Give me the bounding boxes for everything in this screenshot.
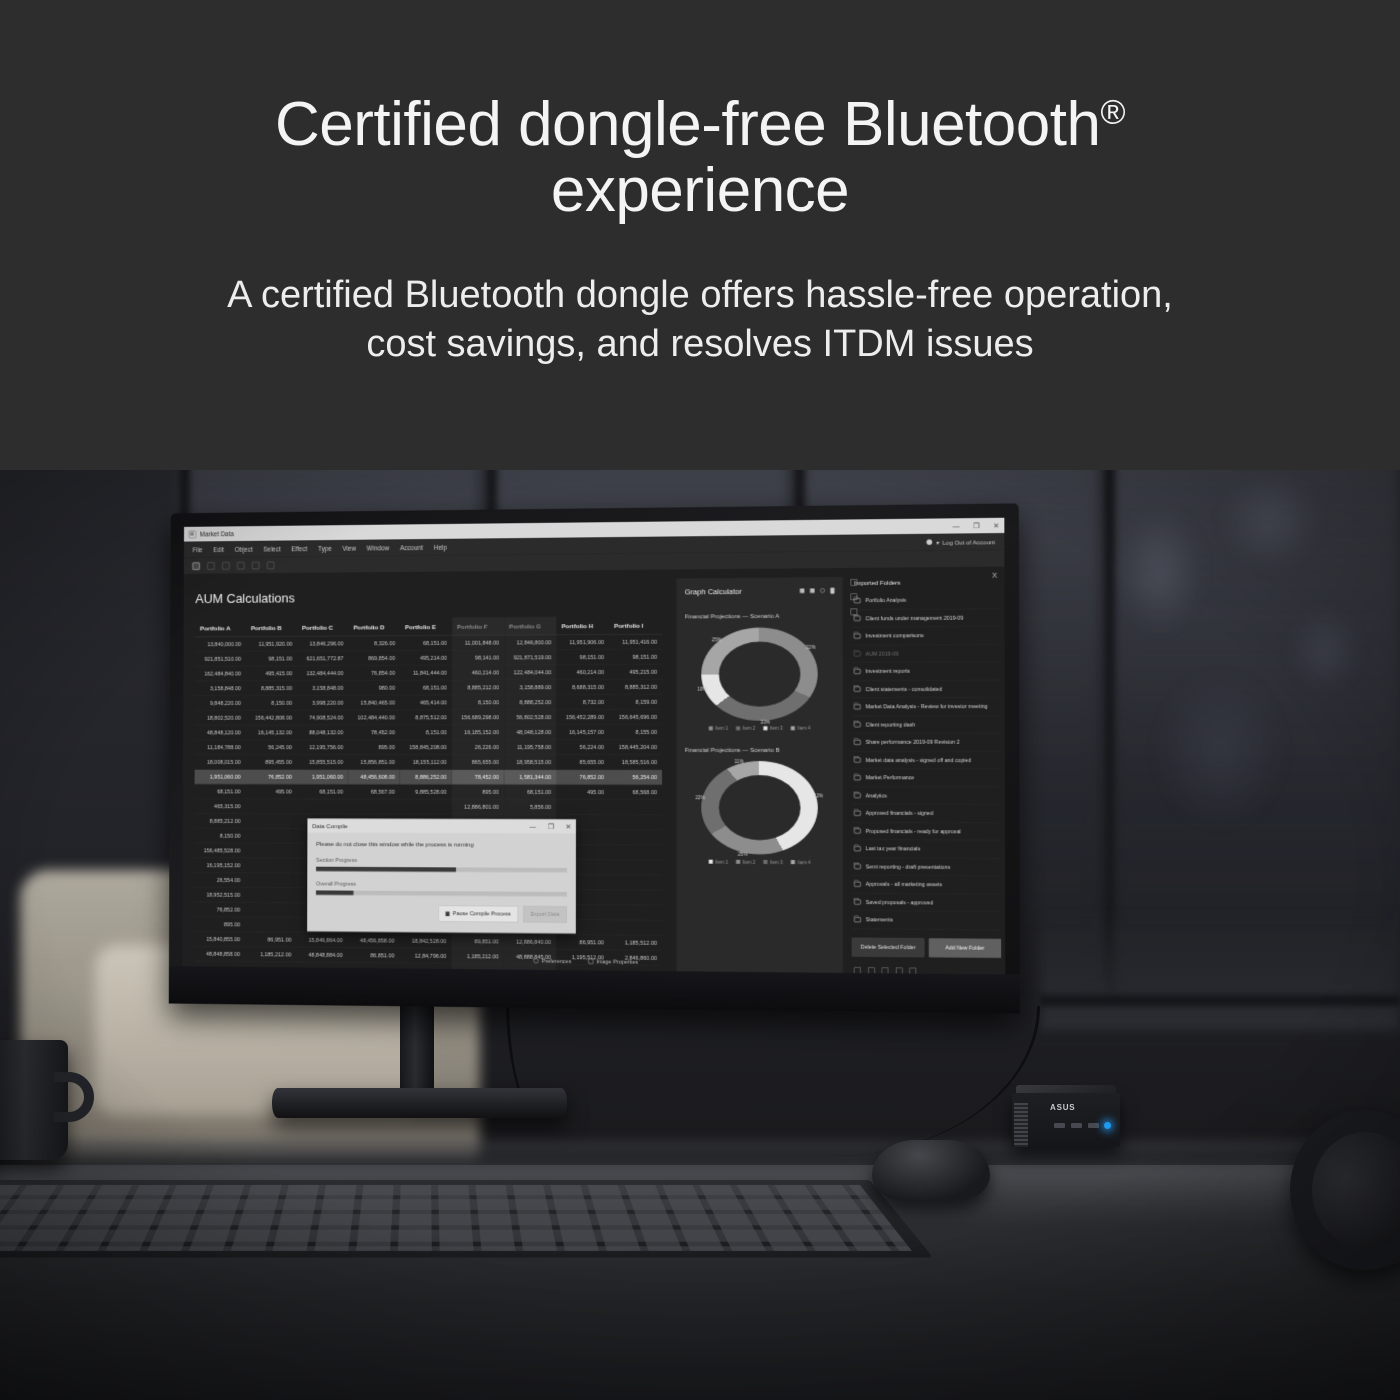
headline-line-1: Certified dongle-free Bluetooth: [275, 90, 1100, 159]
table-cell: 495,415.00: [246, 666, 297, 681]
list-item[interactable]: Semi reporting - draft presentations: [852, 858, 1001, 877]
table-cell: 8,151.00: [400, 725, 452, 740]
app-icon: [189, 530, 196, 537]
table-cell: 156,689,298.00: [452, 710, 504, 725]
trash-icon[interactable]: [831, 587, 835, 593]
dialog-minimize-button[interactable]: —: [529, 822, 535, 830]
list-item[interactable]: Share performance 2019-09 Revision 2: [852, 734, 1000, 752]
table-row[interactable]: 465,315.0012,886,801.005,856.00: [194, 799, 662, 815]
table-cell: [245, 843, 296, 858]
chart-a-legend: Item 1Item 2Item 3Item 4: [685, 726, 835, 731]
table-cell: 8,688,315.00: [556, 680, 609, 695]
screen-content: Market Data — ❐ ✕ File Edit Object: [182, 518, 1005, 975]
table-cell: 8,885,315.00: [246, 681, 297, 696]
chart-tool-icon[interactable]: [237, 562, 244, 569]
close-button[interactable]: ✕: [993, 521, 999, 530]
folder-icon: [854, 598, 861, 603]
menu-item-effect[interactable]: Effect: [291, 545, 307, 553]
table-cell: 921,851,510.00: [195, 652, 246, 667]
monitor-stand-neck: [400, 995, 434, 1100]
table-column-header[interactable]: Portfolio C: [297, 618, 348, 636]
table-cell: 465,315.00: [194, 799, 245, 814]
legend-label: Item 1: [715, 726, 728, 731]
table-cell: 48,848,120.00: [195, 725, 246, 740]
mini-pc-chassis: ASUS: [1012, 1093, 1120, 1147]
menu-item-file[interactable]: File: [193, 546, 203, 553]
window-controls: — ❐ ✕: [953, 521, 1000, 530]
table-row[interactable]: 48,848,120.0016,145,132.0088,048,132.007…: [195, 725, 662, 740]
market-data-application: Market Data — ❐ ✕ File Edit Object: [182, 518, 1005, 975]
table-cell: 162,484,840.00: [195, 666, 246, 681]
section-progress-label: Section Progress: [316, 857, 567, 864]
folder-icon: [854, 811, 861, 816]
legend-item: Item 2: [736, 726, 755, 731]
menu-item-object[interactable]: Object: [235, 545, 253, 553]
table-cell: 98,151.00: [246, 651, 297, 666]
registered-mark-icon: ®: [1100, 93, 1125, 131]
mouse[interactable]: [872, 1140, 990, 1202]
list-item[interactable]: Investment comparisons: [852, 627, 1000, 646]
imported-folders-panel: Imported Folders Portfolio AnalysisClien…: [852, 574, 1001, 975]
minimize-button[interactable]: —: [953, 522, 960, 531]
table-cell: [245, 888, 296, 903]
log-out-of-account-button[interactable]: ▾ Log Out of Account: [926, 538, 995, 546]
table-cell: 56,254.00: [609, 770, 662, 785]
legend-label: Item 1: [715, 859, 728, 864]
table-cell: 16,185,152.00: [452, 725, 504, 740]
legend-item: Item 1: [709, 859, 728, 864]
folder-label: Approved financials - signed: [866, 810, 934, 816]
table-cell: 11,951,920.00: [246, 637, 297, 652]
page-title: Certified dongle-free Bluetooth® experie…: [0, 0, 1400, 223]
table-cell: 18,802,520.00: [195, 711, 246, 726]
table-cell: [245, 903, 296, 918]
usb-port-icon: [1071, 1123, 1082, 1128]
legend-item: Item 3: [764, 726, 783, 731]
table-cell: 9,885,528.00: [400, 785, 452, 800]
graph-calculator-panel: Graph Calculator Financial Projections —…: [677, 577, 844, 974]
table-column-header[interactable]: Portfolio B: [246, 619, 297, 637]
table-tool-icon[interactable]: [222, 562, 229, 569]
folder-icon: [854, 740, 861, 745]
table-row[interactable]: 18,008,015.00895,455.0015,855,515.0015,8…: [195, 755, 662, 770]
menubar-spacer: [458, 542, 915, 547]
dialog-body: Please do not close this window while th…: [307, 833, 576, 931]
table-cell: 1,951,060.00: [297, 770, 348, 785]
legend-swatch: [709, 860, 713, 864]
menu-item-view[interactable]: View: [342, 544, 356, 552]
page-subtitle: A certified Bluetooth dongle offers hass…: [0, 223, 1400, 368]
table-cell: 122,484,044.00: [504, 665, 556, 680]
graph-calculator-title: Graph Calculator: [685, 587, 800, 596]
graph-calculator-header: Graph Calculator: [685, 586, 835, 596]
image-icon: [588, 959, 593, 964]
table-cell: 98,151.00: [609, 649, 662, 664]
table-cell: 13,846,296.00: [297, 636, 348, 651]
table-cell: 895.00: [348, 740, 400, 755]
table-cell: 158,845,208.00: [400, 740, 452, 755]
chart-b-value-label: 25%: [738, 851, 748, 857]
table-cell: 98,151.00: [556, 650, 609, 665]
table-cell: 86,951.00: [556, 935, 609, 950]
monitor-stand-base: [272, 1088, 567, 1118]
folder-label: Market data analysis - signed off and co…: [865, 757, 971, 763]
table-cell: 621,651,772.87: [297, 651, 348, 666]
table-row[interactable]: 18,802,520.00156,442,808.0074,908,524.00…: [195, 710, 662, 726]
power-led-indicator: [1104, 1122, 1111, 1129]
folder-label: Client statements - consolidated: [865, 686, 942, 692]
table-cell: [245, 814, 296, 829]
table-cell: 9,848,220.00: [195, 696, 246, 711]
chart-a-value-label: 25%: [712, 637, 722, 643]
table-cell: 56,224.00: [556, 740, 609, 755]
table-cell: 495,214.00: [400, 651, 452, 666]
table-cell: 3,158,889.00: [504, 680, 556, 695]
table-cell: 15,840,465.00: [348, 695, 400, 710]
table-cell: 8,885,212.00: [194, 814, 245, 829]
menu-item-help[interactable]: Help: [434, 543, 447, 551]
table-cell: 132,484,444.00: [297, 666, 348, 681]
table-cell: [609, 830, 662, 845]
chart-b-legend: Item 1Item 2Item 3Item 4: [685, 859, 835, 865]
table-row[interactable]: 11,184,788.0056,245.0012,195,756.00895.0…: [195, 740, 662, 755]
imported-folders-header: Imported Folders: [852, 574, 1000, 592]
export-tool-icon[interactable]: [267, 561, 274, 568]
folder-icon: [854, 828, 861, 833]
table-row[interactable]: 3,158,848.008,885,315.003,158,848.00980.…: [195, 680, 662, 696]
dialog-title: Data Compile: [312, 822, 529, 830]
list-item[interactable]: Approved financials - signed: [852, 805, 1001, 823]
table-cell: 102,484,440.00: [348, 710, 400, 725]
data-compile-dialog: Data Compile — ❐ ✕ Please do not close t…: [307, 819, 576, 934]
folder-icon: [854, 704, 861, 709]
table-cell: [348, 799, 400, 814]
overall-progress-label: Overall Progress: [316, 881, 567, 888]
chart-b-donut: 42% 25% 22% 11%: [701, 761, 818, 855]
list-item[interactable]: AUM 2019-09: [852, 644, 1000, 662]
table-column-header[interactable]: Portfolio E: [400, 618, 452, 636]
list-item[interactable]: Last tax year financials: [852, 840, 1001, 858]
table-cell: 156,442,808.00: [246, 710, 297, 725]
table-cell: 8,150.00: [452, 695, 504, 710]
legend-item: Item 2: [736, 859, 755, 864]
table-column-header[interactable]: Portfolio F: [452, 617, 504, 635]
table-cell: 18,585,516.00: [609, 755, 662, 770]
square-icon[interactable]: [800, 588, 805, 593]
menu-item-account[interactable]: Account: [400, 544, 423, 552]
user-avatar-icon: [926, 539, 932, 545]
pause-compile-process-button[interactable]: Pause Compile Process: [438, 906, 518, 923]
table-cell: 1,185,512.00: [609, 935, 662, 951]
monitor-panel: Market Data — ❐ ✕ File Edit Object: [182, 518, 1005, 975]
usb-port-icon: [1054, 1123, 1065, 1128]
table-cell: [400, 799, 452, 814]
headline-line-2: experience: [551, 156, 849, 225]
table-cell: 8,326.00: [348, 636, 400, 651]
subtitle-line-2: cost savings, and resolves ITDM issues: [366, 323, 1033, 365]
folder-icon: [854, 882, 861, 887]
folder-icon: [854, 864, 861, 869]
table-cell: 78,452.00: [348, 725, 400, 740]
chart-b-value-label: 22%: [695, 796, 705, 802]
maximize-button[interactable]: ❐: [973, 521, 979, 530]
folder-icon: [854, 757, 861, 762]
list-item[interactable]: Market data analysis - signed off and co…: [852, 751, 1000, 769]
folder-icon: [854, 616, 861, 621]
folder-icon: [854, 846, 861, 851]
table-cell: 156,645,696.00: [609, 710, 662, 725]
overall-progress-bar: [316, 890, 567, 896]
list-item[interactable]: Market Performance: [852, 769, 1001, 787]
table-cell: 8,885,312.00: [609, 680, 662, 695]
table-cell: 68,151.00: [297, 784, 348, 799]
table-cell: 465,414.00: [400, 695, 452, 710]
preferences-button[interactable]: Preferences: [534, 958, 571, 964]
legend-label: Item 3: [770, 859, 783, 864]
legend-swatch: [736, 860, 740, 864]
section-progress-fill: [316, 867, 456, 872]
dialog-maximize-button[interactable]: ❐: [548, 822, 554, 830]
table-cell: [556, 800, 609, 815]
table-cell: 11,841,444.00: [400, 665, 452, 680]
table-cell: [609, 890, 662, 905]
table-cell: 68,151.00: [400, 636, 452, 651]
folder-label: Share performance 2019-09 Revision 2: [865, 739, 959, 745]
image-properties-button[interactable]: Image Properties: [588, 958, 638, 965]
table-cell: 48,456,858.00: [348, 933, 400, 948]
legend-swatch: [736, 726, 740, 730]
table-cell: 86,951.00: [245, 932, 296, 947]
folder-icon: [854, 775, 861, 780]
list-item[interactable]: Market Data Analysis - Review for invest…: [852, 698, 1000, 716]
table-cell: 76,852.00: [556, 770, 609, 785]
table-cell: 1,581,344.00: [504, 770, 556, 785]
list-item[interactable]: Analytics: [852, 787, 1001, 805]
table-cell: [245, 829, 296, 844]
table-cell: 8,150.00: [194, 828, 245, 843]
table-column-header[interactable]: Portfolio I: [609, 616, 662, 635]
table-cell: [245, 873, 296, 888]
table-cell: 8,886,252.00: [400, 770, 452, 785]
table-cell: 89,851.00: [451, 934, 503, 949]
menu-item-window[interactable]: Window: [367, 544, 390, 552]
table-cell: 11,001,848.00: [452, 635, 504, 650]
folder-label: Approvals - all marketing assets: [866, 881, 942, 888]
grid-icon[interactable]: [810, 588, 815, 593]
table-cell: [245, 799, 296, 814]
dialog-close-button[interactable]: ✕: [566, 822, 571, 830]
chart-a-donut: 32% 33% 10% 25%: [701, 627, 817, 721]
list-item[interactable]: Proposed financials - ready for approval: [852, 822, 1001, 840]
table-cell: 18,842,528.00: [399, 933, 451, 948]
graph-calculator-actions: [800, 587, 835, 593]
section-progress-bar: [316, 867, 567, 873]
list-item[interactable]: Client reporting dash: [852, 716, 1000, 734]
table-cell: [609, 845, 662, 860]
table-column-header[interactable]: Portfolio G: [504, 617, 556, 635]
chart-a-title: Financial Projections — Scenario A: [685, 612, 835, 620]
desk-scene-photo: Market Data — ❐ ✕ File Edit Object: [0, 440, 1400, 1400]
table-cell: 495.00: [245, 784, 296, 799]
usb-port-icon: [1088, 1123, 1099, 1128]
table-cell: 11,195,758.00: [504, 740, 556, 755]
list-item[interactable]: Approvals - all marketing assets: [852, 876, 1001, 895]
list-item[interactable]: Client statements - consolidated: [852, 680, 1000, 698]
table-cell: 12,886,801.00: [452, 799, 504, 814]
table-row[interactable]: 162,484,840.00495,415.00132,484,444.0076…: [195, 664, 662, 681]
table-cell: 869,854.00: [348, 651, 400, 666]
list-item[interactable]: Statements: [852, 911, 1001, 930]
table-cell: 8,732.00: [556, 695, 609, 710]
list-item[interactable]: Saved proposals - approved: [852, 893, 1001, 912]
table-cell: 74,908,524.00: [297, 710, 348, 725]
table-cell: 495.00: [556, 785, 609, 800]
dialog-message: Please do not close this window while th…: [316, 840, 567, 848]
list-item[interactable]: Client funds under management 2019-09: [852, 609, 1000, 628]
table-cell: [609, 860, 662, 875]
folder-label: Market Performance: [866, 775, 915, 781]
legend-swatch: [709, 726, 713, 730]
table-cell: [609, 800, 662, 815]
table-cell: 13,840,000.00: [195, 637, 246, 652]
menu-item-edit[interactable]: Edit: [213, 546, 224, 553]
table-cell: 11,951,416.00: [609, 634, 662, 649]
mini-pc-vent: [1014, 1103, 1028, 1147]
folder-icon: [854, 722, 861, 727]
log-out-label: Log Out of Account: [942, 538, 995, 546]
table-cell: 18,155,112.00: [400, 755, 452, 770]
chart-b-value-label: 42%: [813, 793, 823, 799]
table-cell: 88,048,132.00: [297, 725, 348, 740]
table-cell: 48,048,128.00: [504, 725, 556, 740]
table-cell: 76,852.00: [194, 902, 245, 917]
mini-pc-ports: [1054, 1123, 1099, 1128]
folder-label: Last tax year financials: [866, 846, 921, 852]
table-cell: 1,951,060.00: [195, 770, 246, 785]
legend-item: Item 4: [791, 860, 810, 865]
table-cell: 78,452.00: [452, 770, 504, 785]
rectangle-tool-icon[interactable]: [207, 562, 214, 569]
table-cell: [609, 920, 662, 935]
folder-icon: [854, 651, 861, 656]
keyboard[interactable]: [0, 1180, 933, 1257]
table-cell: [609, 815, 662, 830]
workspace: X AUM Calculations Portfolio APortfolio …: [182, 567, 1005, 975]
table-column-header[interactable]: Portfolio H: [556, 617, 609, 636]
table-cell: 15,856,851.00: [348, 755, 400, 770]
table-row[interactable]: 1,951,060.0076,852.001,951,060.0048,456,…: [195, 770, 662, 785]
table-cell: 15,840,855.00: [194, 932, 245, 947]
table-cell: 76,852.00: [245, 770, 296, 785]
table-cell: 18,008,015.00: [195, 755, 246, 770]
table-cell: 895.00: [194, 917, 245, 932]
menu-item-select[interactable]: Select: [263, 545, 280, 553]
folder-icon: [854, 793, 861, 798]
hero-banner: Certified dongle-free Bluetooth® experie…: [0, 0, 1400, 470]
table-cell: 3,158,848.00: [195, 681, 246, 696]
menu-item-type[interactable]: Type: [318, 544, 332, 552]
chart-b-title: Financial Projections — Scenario B: [685, 746, 835, 753]
folder-label: Analytics: [866, 792, 888, 798]
legend-swatch: [791, 726, 795, 730]
table-cell: 460,214.00: [556, 665, 609, 680]
table-cell: 156,485,528.00: [194, 843, 245, 858]
list-item[interactable]: Portfolio Analysis: [852, 591, 1000, 610]
table-cell: 16,145,132.00: [246, 725, 297, 740]
table-cell: 8,875,512.00: [400, 710, 452, 725]
table-cell: 495,215.00: [609, 664, 662, 679]
filter-tool-icon[interactable]: [252, 562, 259, 569]
export-data-button[interactable]: Export Data: [523, 906, 567, 922]
table-cell: 11,184,788.00: [195, 740, 246, 755]
monitor-chin: [169, 966, 1020, 1013]
dialog-window-controls: — ❐ ✕: [529, 822, 571, 830]
folder-list: Portfolio AnalysisClient funds under man…: [852, 591, 1001, 930]
table-cell: 921,871,519.00: [504, 650, 556, 665]
table-cell: 156,452,289.00: [556, 710, 609, 725]
table-cell: 8,885,212.00: [452, 680, 504, 695]
table-cell: 8,150.00: [246, 696, 297, 711]
coffee-mug: [0, 1040, 68, 1160]
table-cell: 18,952,515.00: [194, 887, 245, 902]
table-cell: 12,886,840.00: [504, 934, 557, 949]
pause-label: Pause Compile Process: [453, 911, 511, 917]
select-arrow-tool-icon[interactable]: [193, 562, 200, 569]
folder-icon: [854, 669, 861, 674]
chart-a-value-label: 33%: [760, 720, 770, 726]
donut-ring-b: [701, 761, 818, 855]
table-column-header[interactable]: Portfolio A: [195, 619, 246, 637]
chevron-down-icon: ▾: [936, 538, 939, 545]
table-cell: 18,958,515.00: [504, 755, 556, 770]
table-cell: 68,151.00: [400, 680, 452, 695]
gear-icon: [534, 958, 539, 963]
folder-label: Proposed financials - ready for approval: [866, 828, 961, 834]
table-cell: 76,854.00: [348, 666, 400, 681]
table-column-header[interactable]: Portfolio D: [348, 618, 400, 636]
overall-progress-fill: [316, 890, 353, 895]
legend-swatch: [791, 860, 795, 864]
table-cell: 11,951,906.00: [556, 635, 609, 650]
legend-label: Item 4: [798, 860, 811, 865]
table-cell: 26,226.00: [452, 740, 504, 755]
layers-icon[interactable]: [851, 579, 857, 586]
balcony-railing: [1040, 910, 1400, 1030]
table-cell: 12,195,756.00: [297, 740, 348, 755]
legend-label: Item 3: [770, 726, 783, 731]
table-cell: [297, 799, 348, 814]
monitor-bezel: Market Data — ❐ ✕ File Edit Object: [169, 503, 1020, 1013]
table-cell: 85,655.00: [556, 755, 609, 770]
legend-swatch: [764, 726, 768, 730]
table-cell: 98,141.00: [452, 650, 504, 665]
chart-b-value-label: 11%: [734, 759, 743, 765]
folder-label: Saved proposals - approved: [866, 899, 933, 906]
table-cell: 865,655.00: [452, 755, 504, 770]
circle-icon[interactable]: [820, 588, 825, 593]
table-row[interactable]: 68,151.00495.0068,151.0068,567.009,885,5…: [195, 784, 662, 800]
plant-silhouette: [1100, 450, 1370, 930]
table-cell: 68,151.00: [195, 784, 246, 799]
table-row[interactable]: 9,848,220.008,150.003,998,220.0015,840,4…: [195, 695, 662, 711]
legend-label: Item 2: [743, 726, 756, 731]
legend-item: Item 1: [709, 726, 728, 731]
folder-icon: [854, 899, 861, 904]
list-item[interactable]: Investment reports: [852, 662, 1000, 680]
table-cell: [609, 875, 662, 890]
table-cell: 158,445,204.00: [609, 740, 662, 755]
image-properties-label: Image Properties: [596, 958, 638, 964]
